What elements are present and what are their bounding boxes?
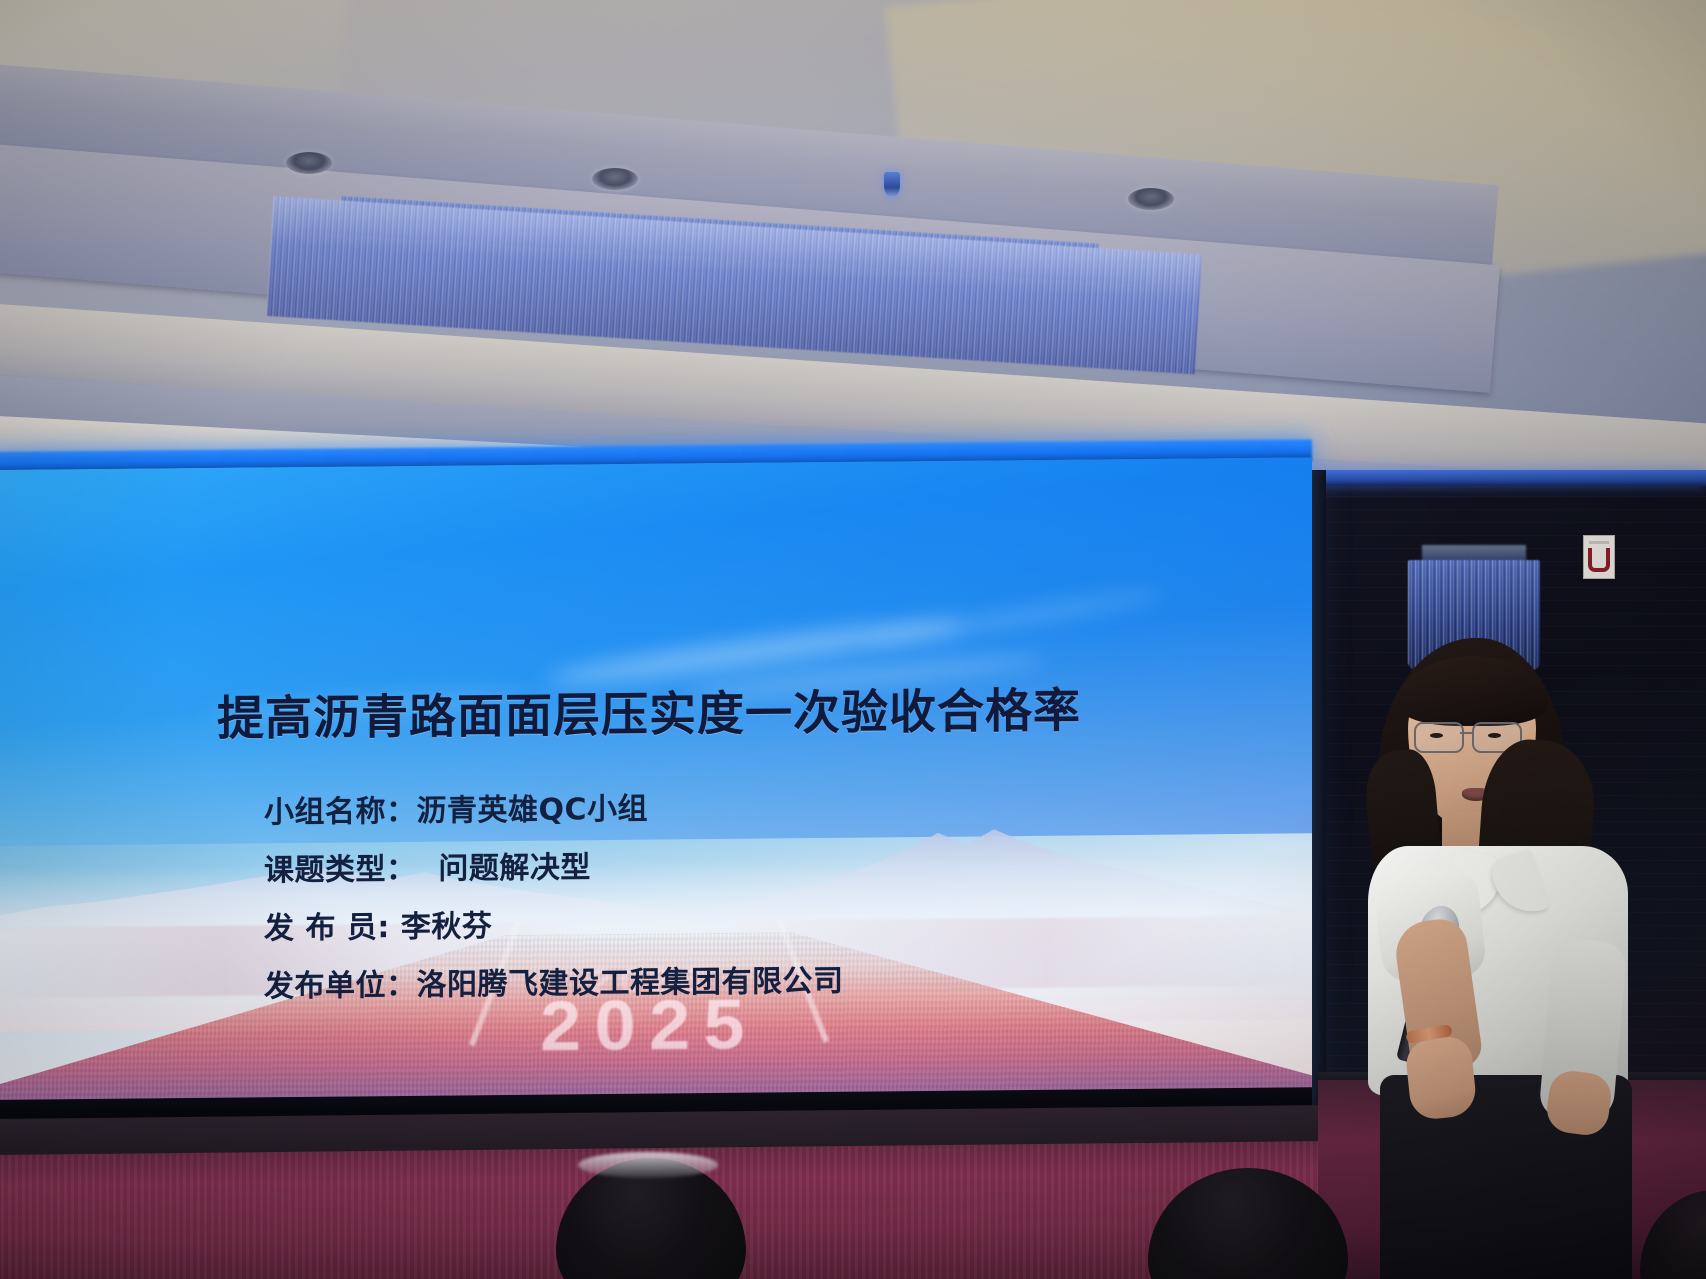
presenter	[1350, 620, 1680, 1279]
fire-alarm-icon	[1588, 548, 1610, 572]
slide-line-organization: 发布单位：洛阳腾飞建设工程集团有限公司	[264, 956, 844, 1006]
sprinkler-head	[884, 172, 900, 198]
presenter-eye-right	[1488, 733, 1501, 738]
led-screen: 2026 2025 提高沥青路面面层压实度一次验收合格率 小组名称：沥青英雄QC…	[0, 457, 1312, 1118]
slide-line-topic-type: 课题类型： 问题解决型	[264, 840, 844, 890]
recessed-downlight	[1128, 188, 1174, 210]
presenter-glasses-bridge	[1460, 732, 1474, 734]
presenter-eye-left	[1430, 733, 1443, 738]
wall-blue-led-strip	[1310, 470, 1706, 486]
presenter-hand-left	[1404, 1035, 1478, 1121]
slide-line-team-name: 小组名称：沥青英雄QC小组	[264, 782, 844, 832]
presentation-slide: 2026 2025 提高沥青路面面层压实度一次验收合格率 小组名称：沥青英雄QC…	[0, 457, 1312, 1118]
recessed-downlight	[592, 168, 638, 190]
slide-line-presenter: 发 布 员: 李秋芬	[264, 898, 844, 948]
fire-alarm-sign-bar	[1589, 541, 1609, 544]
slide-body-lines: 小组名称：沥青英雄QC小组 课题类型： 问题解决型 发 布 员: 李秋芬 发布单…	[264, 782, 844, 1006]
audience-head-highlight	[578, 1152, 718, 1178]
fire-alarm-sign	[1583, 535, 1615, 579]
photo-scene: 2026 2025 提高沥青路面面层压实度一次验收合格率 小组名称：沥青英雄QC…	[0, 0, 1706, 1279]
recessed-downlight	[286, 152, 332, 174]
slide-title: 提高沥青路面面层压实度一次验收合格率	[0, 669, 1312, 751]
